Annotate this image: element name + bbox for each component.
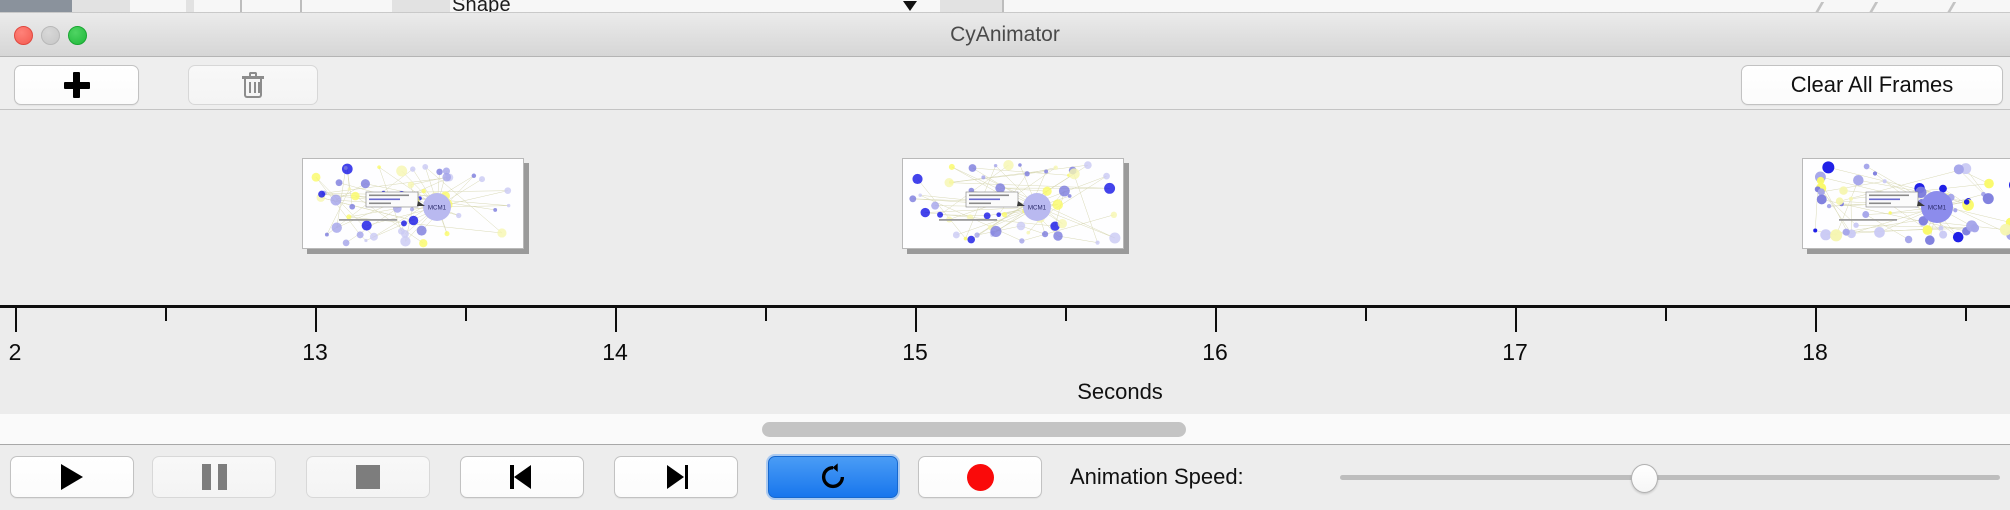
- loop-icon: [818, 462, 848, 492]
- timeline-ruler[interactable]: Seconds 2131415161718: [0, 305, 2010, 414]
- play-icon: [61, 464, 83, 490]
- skip-previous-icon: [509, 464, 535, 490]
- skip-next-button[interactable]: [614, 456, 738, 498]
- ruler-tick-major: [315, 308, 317, 332]
- svg-text:MCM1: MCM1: [428, 205, 447, 212]
- ruler-axis-line: [0, 305, 2010, 308]
- ruler-tick-major: [1815, 308, 1817, 332]
- svg-text:MCM1: MCM1: [1028, 205, 1047, 212]
- timeline-scrollbar-thumb[interactable]: [762, 422, 1186, 437]
- ruler-tick-label: 13: [302, 339, 328, 366]
- frame-thumbnail-image: MCM1: [902, 158, 1124, 249]
- ruler-tick-label: 16: [1202, 339, 1228, 366]
- ruler-tick-minor: [1665, 308, 1667, 321]
- stop-button[interactable]: [306, 456, 430, 498]
- pause-button[interactable]: [152, 456, 276, 498]
- clear-all-frames-button[interactable]: Clear All Frames: [1741, 65, 2003, 105]
- trash-icon: [242, 72, 264, 98]
- pause-icon: [202, 464, 227, 490]
- record-button[interactable]: [918, 456, 1042, 498]
- plus-icon: [64, 72, 90, 98]
- slider-track: [1340, 475, 2000, 480]
- svg-text:MCM1: MCM1: [1928, 205, 1947, 212]
- loop-button[interactable]: [768, 456, 898, 498]
- bg-caret-icon: [903, 1, 917, 11]
- record-icon: [967, 464, 994, 491]
- ruler-tick-major: [15, 308, 17, 332]
- ruler-axis-title: Seconds: [1077, 379, 1163, 405]
- frame-thumbnail[interactable]: MCM1: [902, 158, 1129, 254]
- frames-layer: MCM1MCM1MCM1: [0, 110, 2010, 305]
- ruler-tick-label: 18: [1802, 339, 1828, 366]
- skip-previous-button[interactable]: [460, 456, 584, 498]
- add-frame-button[interactable]: [14, 65, 139, 105]
- frame-thumbnail-network: MCM1: [903, 159, 1124, 249]
- timeline-panel[interactable]: MCM1MCM1MCM1 Seconds 2131415161718: [0, 110, 2010, 414]
- ruler-tick-label: 15: [902, 339, 928, 366]
- slider-thumb[interactable]: [1631, 464, 1658, 493]
- ruler-tick-minor: [465, 308, 467, 321]
- frame-thumbnail-image: MCM1: [302, 158, 524, 249]
- ruler-tick-label: 2: [9, 339, 22, 366]
- animation-speed-label: Animation Speed:: [1070, 456, 1244, 498]
- play-button[interactable]: [10, 456, 134, 498]
- ruler-tick-major: [915, 308, 917, 332]
- frame-thumbnail-network: MCM1: [303, 159, 524, 249]
- ruler-tick-minor: [1965, 308, 1967, 321]
- toolbar: Clear All Frames: [0, 57, 2010, 110]
- frame-thumbnail[interactable]: MCM1: [302, 158, 529, 254]
- ruler-tick-minor: [165, 308, 167, 321]
- ruler-tick-major: [615, 308, 617, 332]
- ruler-tick-label: 14: [602, 339, 628, 366]
- timeline-scrollbar[interactable]: [0, 414, 2010, 445]
- frame-thumbnail-network: MCM1: [1803, 159, 2010, 249]
- skip-next-icon: [663, 464, 689, 490]
- ruler-tick-minor: [1365, 308, 1367, 321]
- title-bar: CyAnimator: [0, 13, 2010, 57]
- frame-thumbnail[interactable]: MCM1: [1802, 158, 2010, 254]
- delete-frame-button[interactable]: [188, 65, 318, 105]
- window-title: CyAnimator: [0, 13, 2010, 57]
- ruler-tick-label: 17: [1502, 339, 1528, 366]
- ruler-tick-minor: [1065, 308, 1067, 321]
- ruler-tick-major: [1215, 308, 1217, 332]
- frame-thumbnail-image: MCM1: [1802, 158, 2010, 249]
- stop-icon: [356, 465, 380, 489]
- playback-toolbar: Animation Speed:: [0, 446, 2010, 510]
- animation-speed-slider[interactable]: [1340, 456, 2000, 498]
- ruler-tick-major: [1515, 308, 1517, 332]
- ruler-tick-minor: [765, 308, 767, 321]
